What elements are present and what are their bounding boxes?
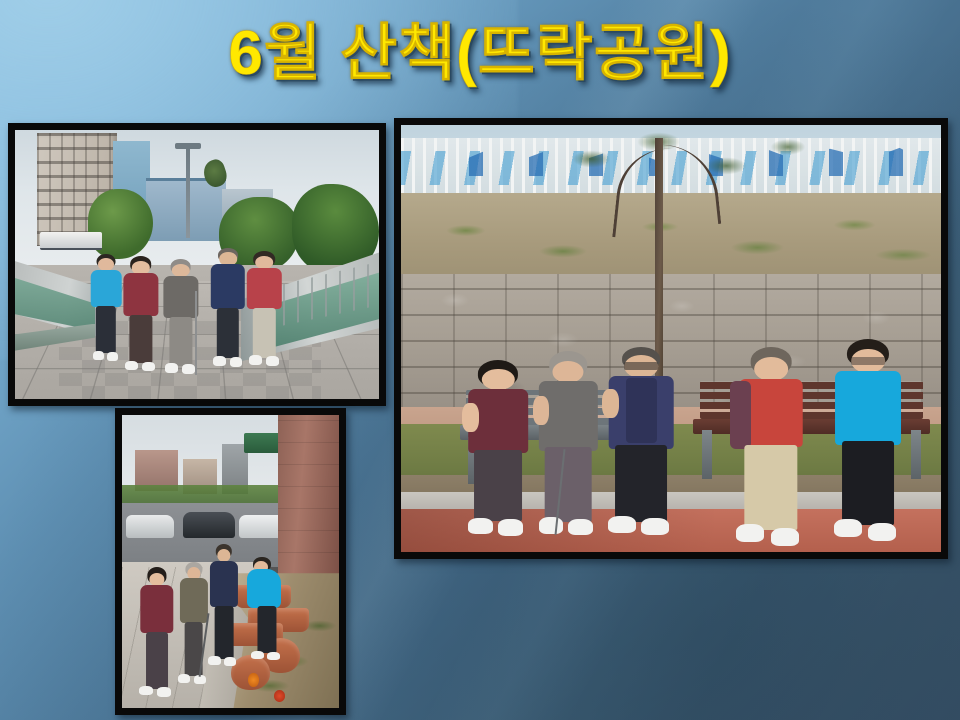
person-walker [208,248,248,372]
parked-car [183,512,235,538]
person-walker [121,256,161,377]
person-bending-over-planter [246,550,289,667]
photo-bridge-walk-image [15,130,379,399]
walking-cane [195,291,197,376]
photo-garden-planters-image [122,415,339,708]
person-seated [536,351,601,539]
person-walker [88,254,124,367]
bench-leg [911,430,921,479]
parked-car [126,515,174,538]
photo-bench-group-image [401,125,941,552]
bench-leg [702,430,712,479]
cyan-jacket [247,569,281,609]
person-standing [204,544,243,673]
photo-bridge-walk[interactable] [8,123,386,406]
red-flower [274,690,285,702]
bus [40,232,102,250]
slide-title: 6월 산책(뜨락공원) [0,18,960,89]
photo-garden-planters[interactable] [115,408,346,715]
slide-canvas: 6월 산책(뜨락공원) [0,0,960,720]
plaid-jacket [730,381,751,449]
photo-bench-group[interactable] [394,118,948,559]
street-lamp-arm [175,143,200,148]
street-lamp-pole [186,146,190,237]
person-seated [606,347,676,539]
orange-flower [248,673,259,688]
eyeglasses [624,362,658,370]
eyeglasses [851,357,885,365]
person-walker-with-cane [161,259,201,380]
person-walker [244,251,284,372]
person-seated [736,347,806,548]
person-seated [466,360,531,539]
person-seated [833,339,903,544]
vest [626,378,657,443]
